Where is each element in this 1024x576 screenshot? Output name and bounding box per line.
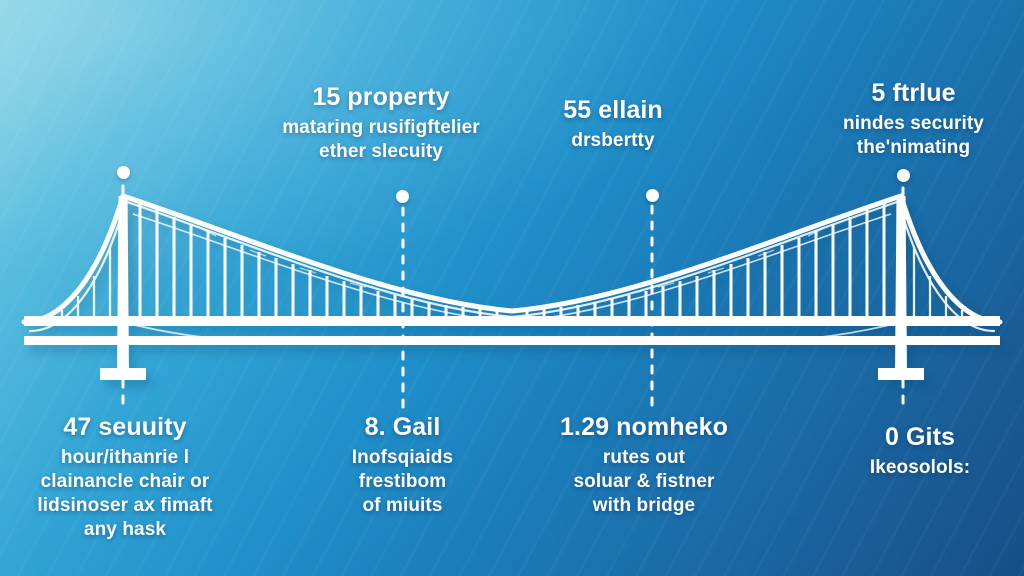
callout-top-1[interactable]: 15 property mataring rusifigftelier ethe…	[251, 82, 511, 163]
callout-bottom-2-value: 8.	[365, 413, 386, 441]
callout-bottom-4[interactable]: 0 Gits Ikeosolols:	[820, 422, 1020, 479]
callout-bottom-2-line-2: frestibom	[310, 470, 495, 493]
marker-dot-1[interactable]	[117, 166, 130, 179]
callout-bottom-2-line-3: of miuits	[310, 494, 495, 517]
callout-bottom-1-body: hour/ithanrie l clainancle chair or lids…	[5, 446, 245, 542]
callout-top-2[interactable]: 55 ellain drsbertty	[513, 95, 713, 152]
callout-top-1-value: 15	[312, 83, 340, 111]
callout-bottom-1-line-3: lidsinoser ax fimaft	[5, 494, 245, 517]
callout-bottom-3[interactable]: 1.29 nomheko rutes out soluar & fistner …	[528, 412, 760, 517]
callout-top-1-headline: 15 property	[251, 82, 511, 113]
callout-top-3-line-1: nindes security	[803, 112, 1024, 135]
callout-bottom-2-word: Gail	[393, 413, 441, 441]
callout-bottom-2-headline: 8. Gail	[310, 412, 495, 443]
callout-top-1-word: property	[347, 83, 449, 111]
callout-top-2-word: ellain	[598, 96, 663, 124]
callout-top-3-word: ftrlue	[892, 79, 955, 107]
callout-top-3-body: nindes security the'nimating	[803, 112, 1024, 159]
callout-bottom-4-word: Gits	[906, 423, 955, 451]
callout-bottom-3-body: rutes out soluar & fistner with bridge	[528, 446, 760, 518]
callout-top-1-body: mataring rusifigftelier ether slecuity	[251, 116, 511, 163]
callout-bottom-1-line-1: hour/ithanrie l	[5, 446, 245, 469]
callout-top-2-value: 55	[563, 96, 591, 124]
callout-bottom-3-word: nomheko	[616, 413, 728, 441]
callout-bottom-1-line-4: any hask	[5, 518, 245, 541]
callout-bottom-3-headline: 1.29 nomheko	[528, 412, 760, 443]
callout-bottom-4-headline: 0 Gits	[820, 422, 1020, 453]
callout-top-1-line-2: ether slecuity	[251, 140, 511, 163]
callout-bottom-2-body: Inofsqiaids frestibom of miuits	[310, 446, 495, 518]
marker-dot-4[interactable]	[897, 169, 910, 182]
callout-bottom-3-value: 1.29	[560, 413, 609, 441]
callout-bottom-1-word: seuuity	[98, 413, 186, 441]
callout-bottom-4-body: Ikeosolols:	[820, 456, 1020, 479]
marker-dot-3[interactable]	[646, 189, 659, 202]
callout-bottom-2[interactable]: 8. Gail Inofsqiaids frestibom of miuits	[310, 412, 495, 517]
callout-bottom-3-line-2: soluar & fistner	[528, 470, 760, 493]
callout-bottom-4-value: 0	[885, 423, 899, 451]
callout-top-2-body: drsbertty	[513, 129, 713, 152]
callout-bottom-4-line-1: Ikeosolols:	[820, 456, 1020, 479]
marker-dot-2[interactable]	[396, 190, 409, 203]
callout-bottom-3-line-1: rutes out	[528, 446, 760, 469]
callout-bottom-1[interactable]: 47 seuuity hour/ithanrie l clainancle ch…	[5, 412, 245, 541]
callout-top-3-line-2: the'nimating	[803, 136, 1024, 159]
infographic-canvas: 15 property mataring rusifigftelier ethe…	[0, 0, 1024, 576]
callout-bottom-1-line-2: clainancle chair or	[5, 470, 245, 493]
callout-top-2-headline: 55 ellain	[513, 95, 713, 126]
callout-bottom-2-line-1: Inofsqiaids	[310, 446, 495, 469]
callout-top-2-line-1: drsbertty	[513, 129, 713, 152]
callout-bottom-1-value: 47	[63, 413, 91, 441]
callout-top-1-line-1: mataring rusifigftelier	[251, 116, 511, 139]
callout-top-3[interactable]: 5 ftrlue nindes security the'nimating	[803, 78, 1024, 159]
callout-top-3-headline: 5 ftrlue	[803, 78, 1024, 109]
callout-top-3-value: 5	[871, 79, 885, 107]
callout-bottom-3-line-3: with bridge	[528, 494, 760, 517]
callout-bottom-1-headline: 47 seuuity	[5, 412, 245, 443]
